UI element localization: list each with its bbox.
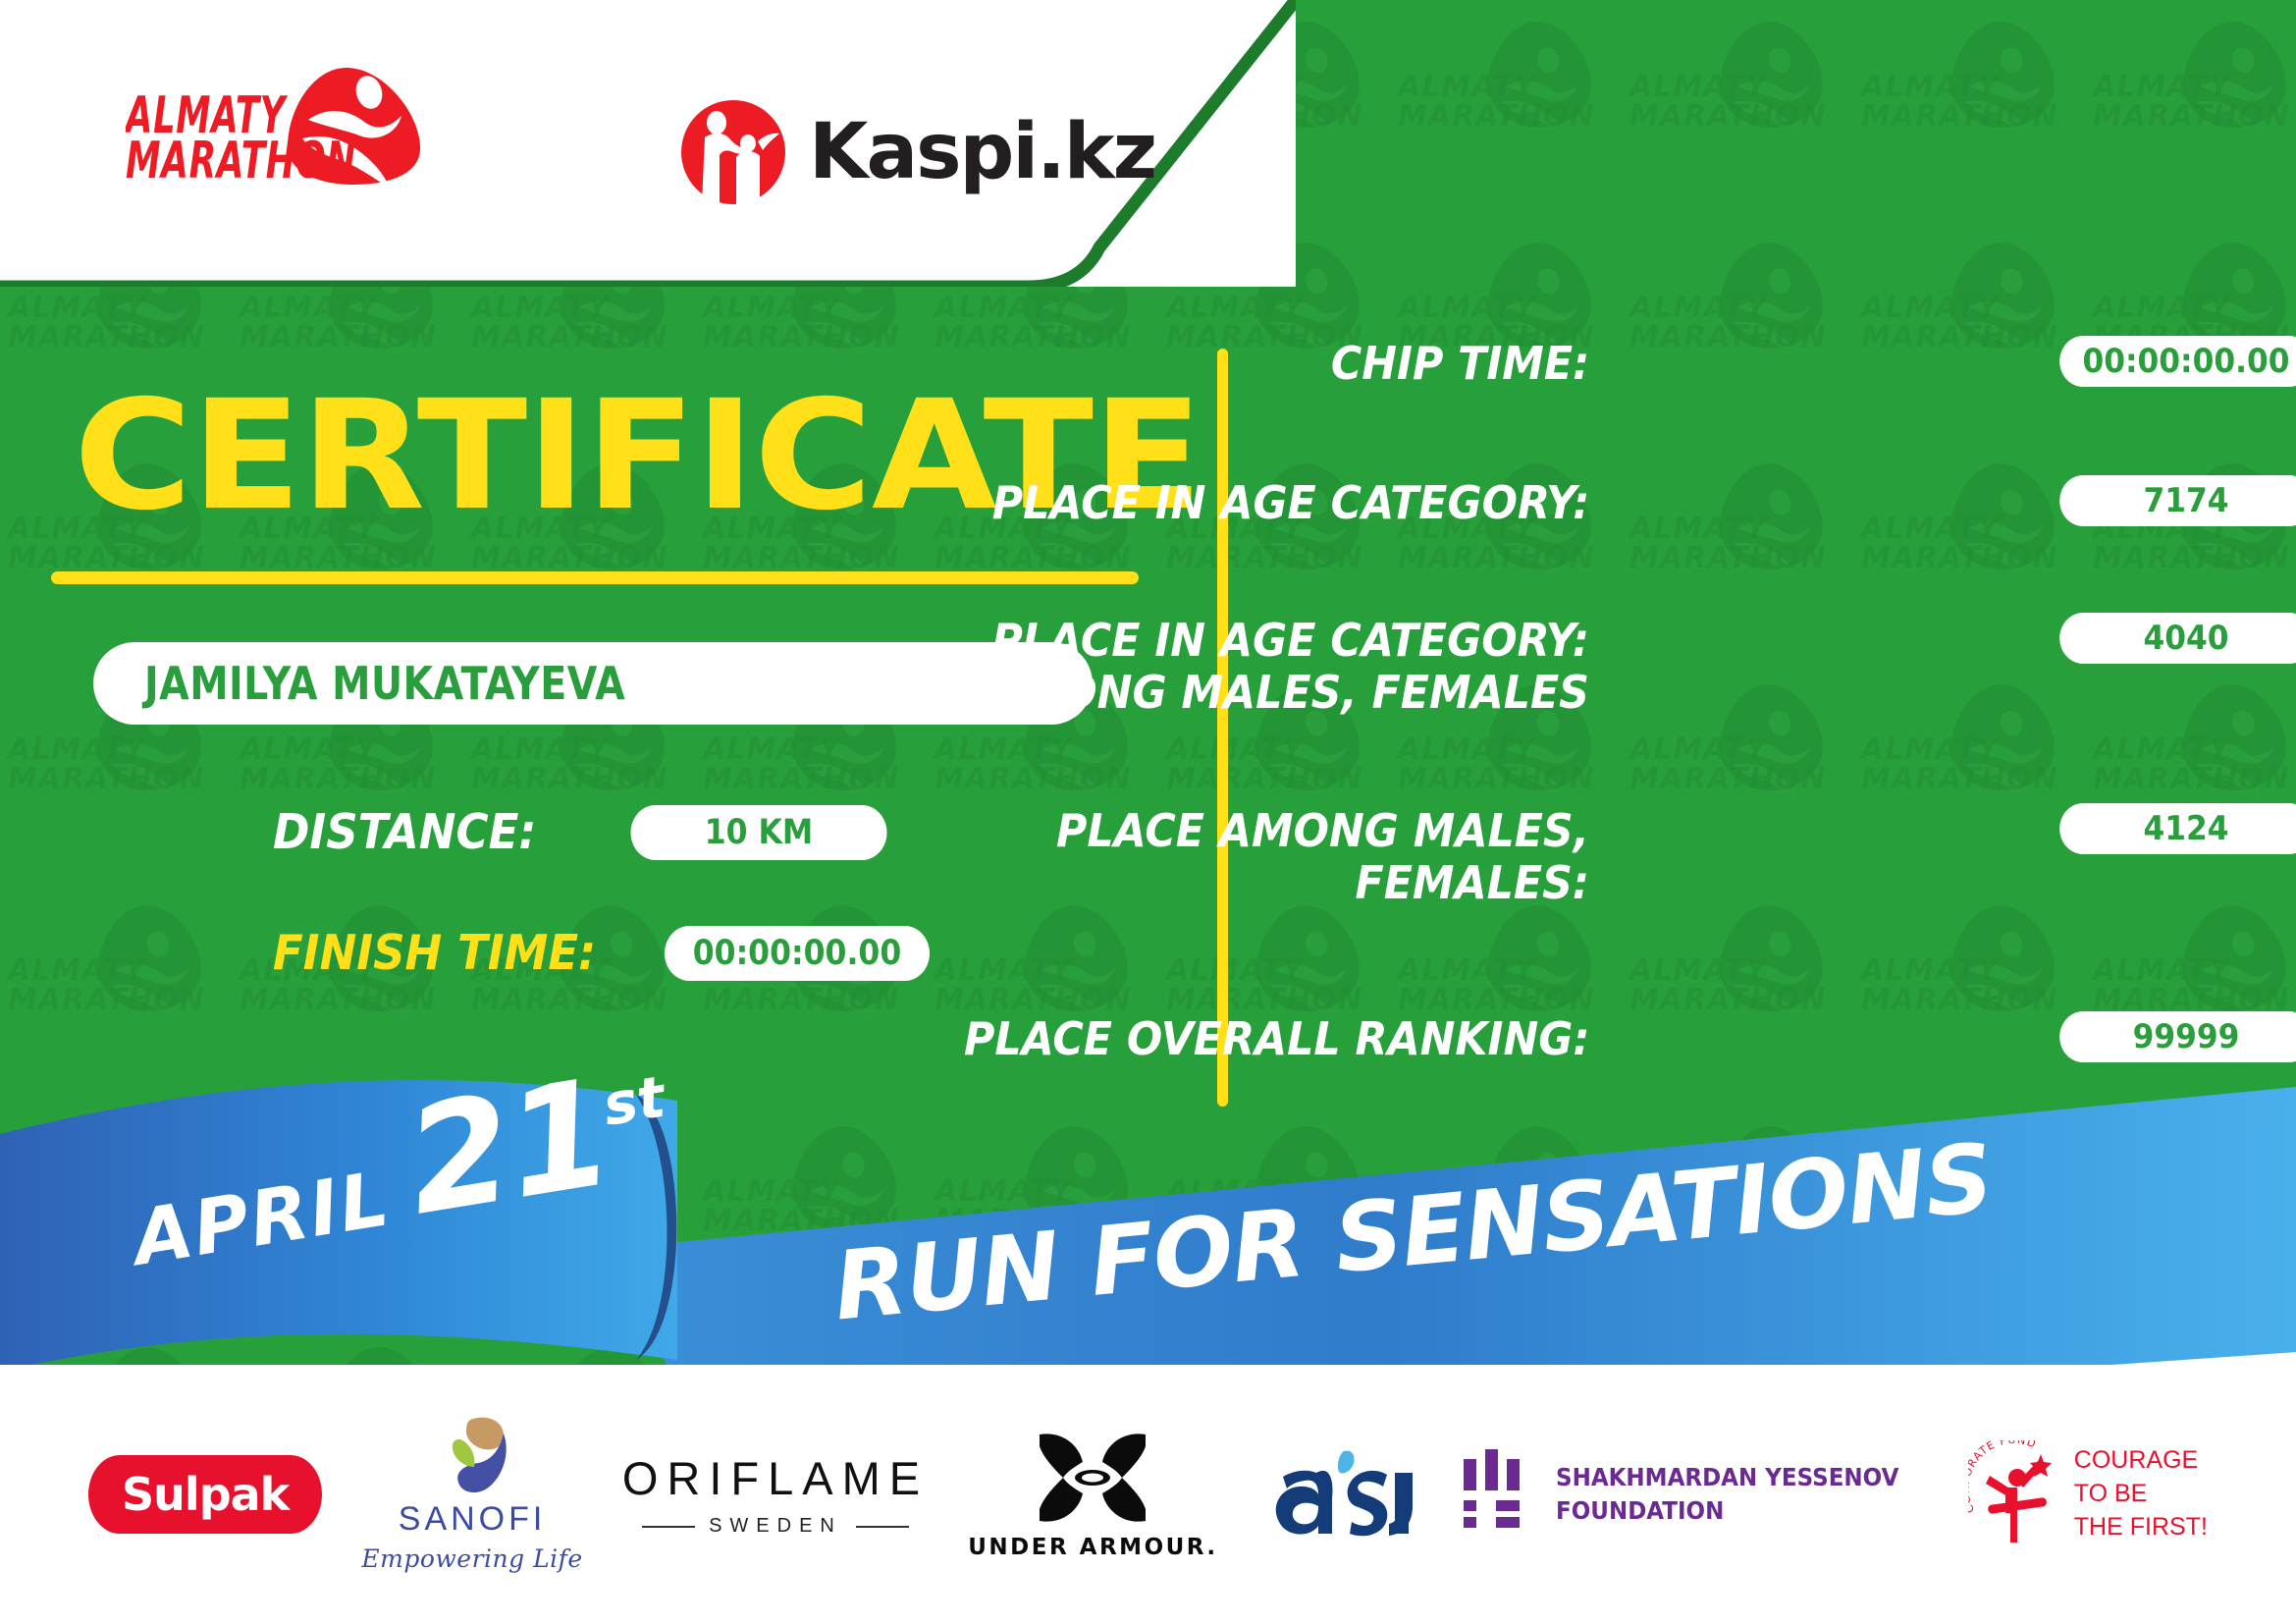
event-day: 21 xyxy=(396,1048,621,1248)
certificate-canvas: ALMATY MARATHON ALMATY MARATHON xyxy=(0,0,2296,1624)
yessenov-line-1: SHAKHMARDAN YESSENOV xyxy=(1556,1463,1898,1491)
participant-name-value: JAMILYA MUKATAYEVA xyxy=(144,657,625,710)
courage-wrap: CORPORATE FUND COURAGE TO BE THE FIRST! xyxy=(1968,1440,2208,1548)
almaty-marathon-logo: ALMATY MARATHON xyxy=(126,62,430,189)
courage-fund-icon: CORPORATE FUND xyxy=(1968,1440,2062,1548)
kaspi-wordmark: Kaspi.kz xyxy=(809,108,1155,196)
kaspi-logo: Kaspi.kz xyxy=(679,98,1155,206)
sponsor-oriflame: ORIFLAME SWEDEN xyxy=(622,1406,929,1583)
title-divider-rule xyxy=(51,571,1139,584)
place-overall-value: 99999 xyxy=(2059,1011,2296,1062)
rule-right xyxy=(856,1526,909,1528)
under-armour-icon xyxy=(1028,1429,1157,1527)
chip-time-value: 00:00:00.00 xyxy=(2059,336,2296,387)
column-divider xyxy=(1217,349,1228,1107)
sponsor-courage-fund: CORPORATE FUND COURAGE TO BE THE FIRST! xyxy=(1968,1406,2208,1583)
oriflame-wordmark: ORIFLAME xyxy=(622,1451,929,1505)
place-age-category-among-value: 4040 xyxy=(2059,613,2296,664)
rule-left xyxy=(642,1526,695,1528)
sulpak-wordmark: Sulpak xyxy=(88,1455,322,1534)
label-line-2: FEMALES: xyxy=(1355,856,1589,909)
label-line-1: PLACE IN AGE CATEGORY: xyxy=(991,614,1589,667)
place-age-category-among-label: PLACE IN AGE CATEGORY: AMONG MALES, FEMA… xyxy=(895,615,1589,720)
distance-value: 10 KM xyxy=(630,805,886,860)
distance-row: DISTANCE: 10 KM xyxy=(273,804,901,860)
courage-line-1: COURAGE xyxy=(2074,1446,2198,1474)
sponsor-asu xyxy=(1257,1406,1422,1583)
place-age-category-label: PLACE IN AGE CATEGORY: xyxy=(991,477,1589,529)
under-armour-wordmark: UNDER ARMOUR. xyxy=(968,1535,1217,1560)
label-line-2: AMONG MALES, FEMALES xyxy=(988,666,1589,719)
courage-line-2: TO BE xyxy=(2074,1480,2148,1507)
courage-wordmark: COURAGE TO BE THE FIRST! xyxy=(2074,1444,2208,1543)
yessenov-mark-icon xyxy=(1462,1449,1530,1540)
kaspi-family-circle-icon xyxy=(679,98,787,206)
logo-line2: MARATHON xyxy=(126,132,356,185)
sanofi-tagline: Empowering Life xyxy=(361,1544,582,1573)
yessenov-wordmark: SHAKHMARDAN YESSENOV FOUNDATION xyxy=(1556,1461,1898,1528)
finish-time-label: FINISH TIME: xyxy=(273,925,596,981)
yessenov-wrap: SHAKHMARDAN YESSENOV FOUNDATION xyxy=(1462,1449,1929,1540)
sponsor-footer: Sulpak SANOFI Empowering Life ORIFLAME S… xyxy=(0,1365,2296,1624)
distance-label: DISTANCE: xyxy=(273,804,536,860)
yessenov-line-2: FOUNDATION xyxy=(1556,1496,1724,1525)
event-day-suffix: st xyxy=(599,1063,669,1139)
asu-logo-icon xyxy=(1257,1447,1422,1542)
finish-time-value: 00:00:00.00 xyxy=(665,926,930,981)
sponsor-sulpak: Sulpak xyxy=(88,1406,322,1583)
place-among-value: 4124 xyxy=(2059,803,2296,854)
sponsor-sanofi: SANOFI Empowering Life xyxy=(361,1406,582,1583)
place-overall-label: PLACE OVERALL RANKING: xyxy=(963,1013,1589,1065)
sanofi-mark-icon xyxy=(431,1416,513,1496)
sponsor-under-armour: UNDER ARMOUR. xyxy=(968,1406,1217,1583)
label-line-1: PLACE AMONG MALES, xyxy=(1056,804,1589,857)
chip-time-label: CHIP TIME: xyxy=(1331,338,1589,390)
place-among-label: PLACE AMONG MALES, FEMALES: xyxy=(895,805,1589,910)
place-age-category-value: 7174 xyxy=(2059,475,2296,526)
oriflame-tagline: SWEDEN xyxy=(709,1515,842,1538)
finish-time-row: FINISH TIME: 00:00:00.00 xyxy=(273,925,944,981)
sponsor-yessenov-foundation: SHAKHMARDAN YESSENOV FOUNDATION xyxy=(1462,1406,1929,1583)
courage-line-3: THE FIRST! xyxy=(2074,1513,2208,1541)
runner-teardrop-icon: ALMATY MARATHON xyxy=(126,62,430,185)
oriflame-sub: SWEDEN xyxy=(642,1515,909,1538)
sanofi-wordmark: SANOFI xyxy=(399,1500,547,1539)
